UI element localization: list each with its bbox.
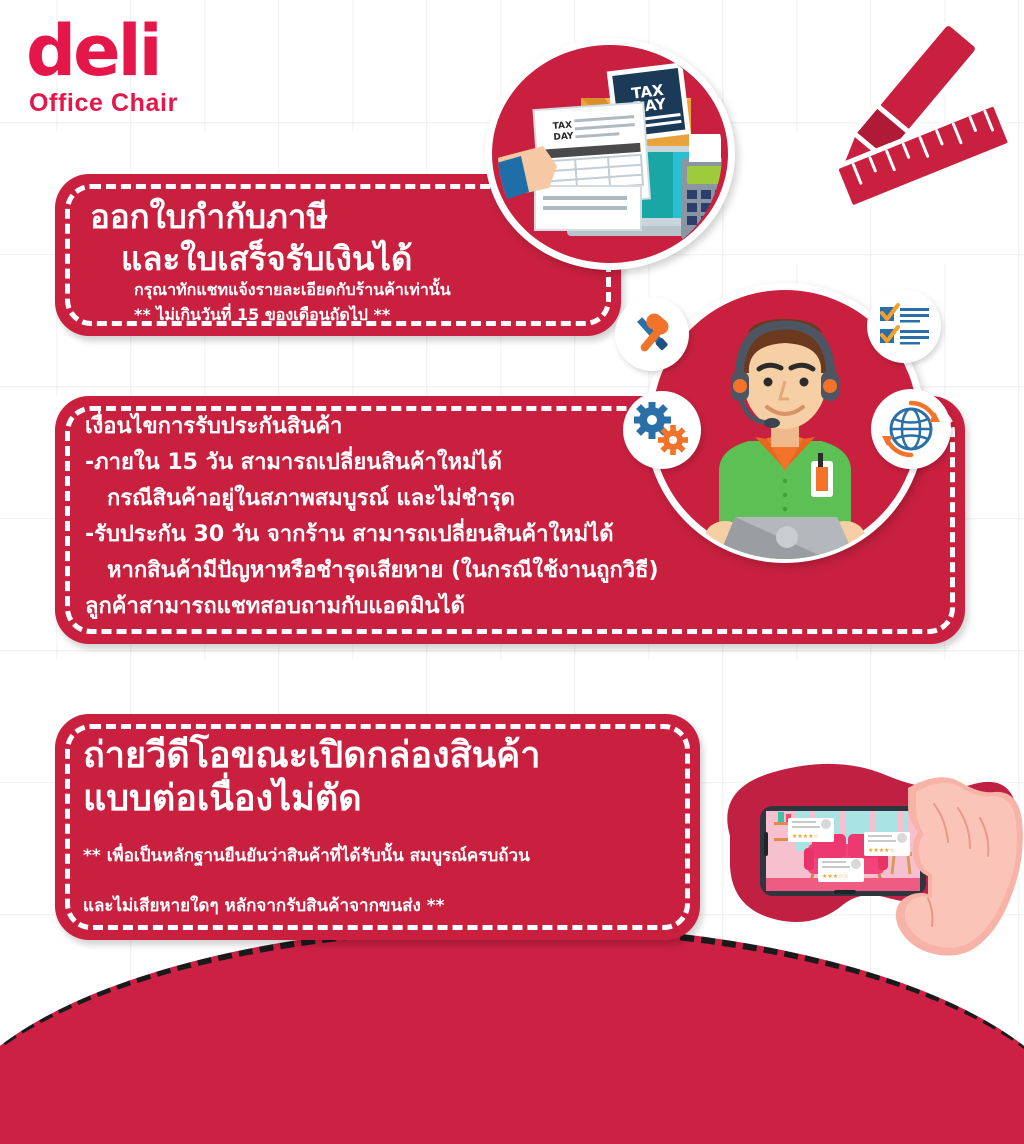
warranty-heading: เงื่อนไขการรับประกันสินค้า xyxy=(85,408,342,443)
brand-logo: deli Office Chair xyxy=(26,18,178,118)
globe-icon xyxy=(871,389,951,469)
svg-text:★★★★☆: ★★★★☆ xyxy=(868,847,895,854)
smartphone: ★★★★☆ ★★★★☆ ★★★☆☆ xyxy=(760,806,926,896)
tax-illustration-svg: TAX DAY TAX DAY xyxy=(485,38,735,270)
customer-support-agent-illustration xyxy=(615,275,957,585)
warranty-line-5: ลูกค้าสามารถแชทสอบถามกับแอดมินได้ xyxy=(85,588,465,623)
video-note-line1: ** เพื่อเป็นหลักฐานยืนยันว่าสินค้าที่ได้… xyxy=(83,842,530,869)
pen-ruler-svg xyxy=(812,14,1022,219)
svg-text:★★★★☆: ★★★★☆ xyxy=(792,833,819,840)
warranty-line-4: หากสินค้ามีปัญหาหรือชำรุดเสียหาย (ในกรณี… xyxy=(107,552,659,587)
warranty-line-2: กรณีสินค้าอยู่ในสภาพสมบูรณ์ และไม่ชำรุด xyxy=(107,480,515,515)
invoice-note-line1: กรุณาทักแชทแจ้งรายละเอียดกับร้านค้าเท่าน… xyxy=(134,278,451,303)
card-unboxing-video: ถ่ายวีดีโอขณะเปิดกล่องสินค้า แบบต่อเนื่อ… xyxy=(55,714,700,940)
tax-document-illustration: TAX DAY TAX DAY xyxy=(485,38,735,270)
video-headline-line2: แบบต่อเนื่องไม่ตัด xyxy=(83,769,362,826)
pen-and-ruler-illustration xyxy=(812,14,1022,219)
checklist-icon xyxy=(867,289,941,363)
phone-hand-svg: ★★★★☆ ★★★★☆ ★★★☆☆ xyxy=(712,748,1024,998)
svg-text:DAY: DAY xyxy=(553,131,574,142)
warranty-line-3: -รับประกัน 30 วัน จากร้าน สามารถเปลี่ยนส… xyxy=(85,516,614,551)
tools-icon xyxy=(615,297,689,371)
svg-text:★★★☆☆: ★★★☆☆ xyxy=(822,873,849,880)
video-note-line2: และไม่เสียหายใดๆ หลักจากรับสินค้าจากขนส่… xyxy=(83,892,444,919)
logo-subtitle: Office Chair xyxy=(29,89,178,118)
logo-wordmark: deli xyxy=(26,18,178,85)
warranty-line-1: -ภายใน 15 วัน สามารถเปลี่ยนสินค้าใหม่ได้ xyxy=(85,444,502,479)
review-card: ★★★★☆ xyxy=(788,818,834,842)
review-card: ★★★☆☆ xyxy=(818,858,864,882)
hand-holding-phone-illustration: ★★★★☆ ★★★★☆ ★★★☆☆ xyxy=(712,748,1024,998)
invoice-note-line2: ** ไม่เกินวันที่ 15 ของเดือนถัดไป ** xyxy=(134,303,390,328)
svg-text:TAX: TAX xyxy=(552,121,572,132)
gears-icon xyxy=(623,391,701,469)
review-card: ★★★★☆ xyxy=(864,832,910,856)
